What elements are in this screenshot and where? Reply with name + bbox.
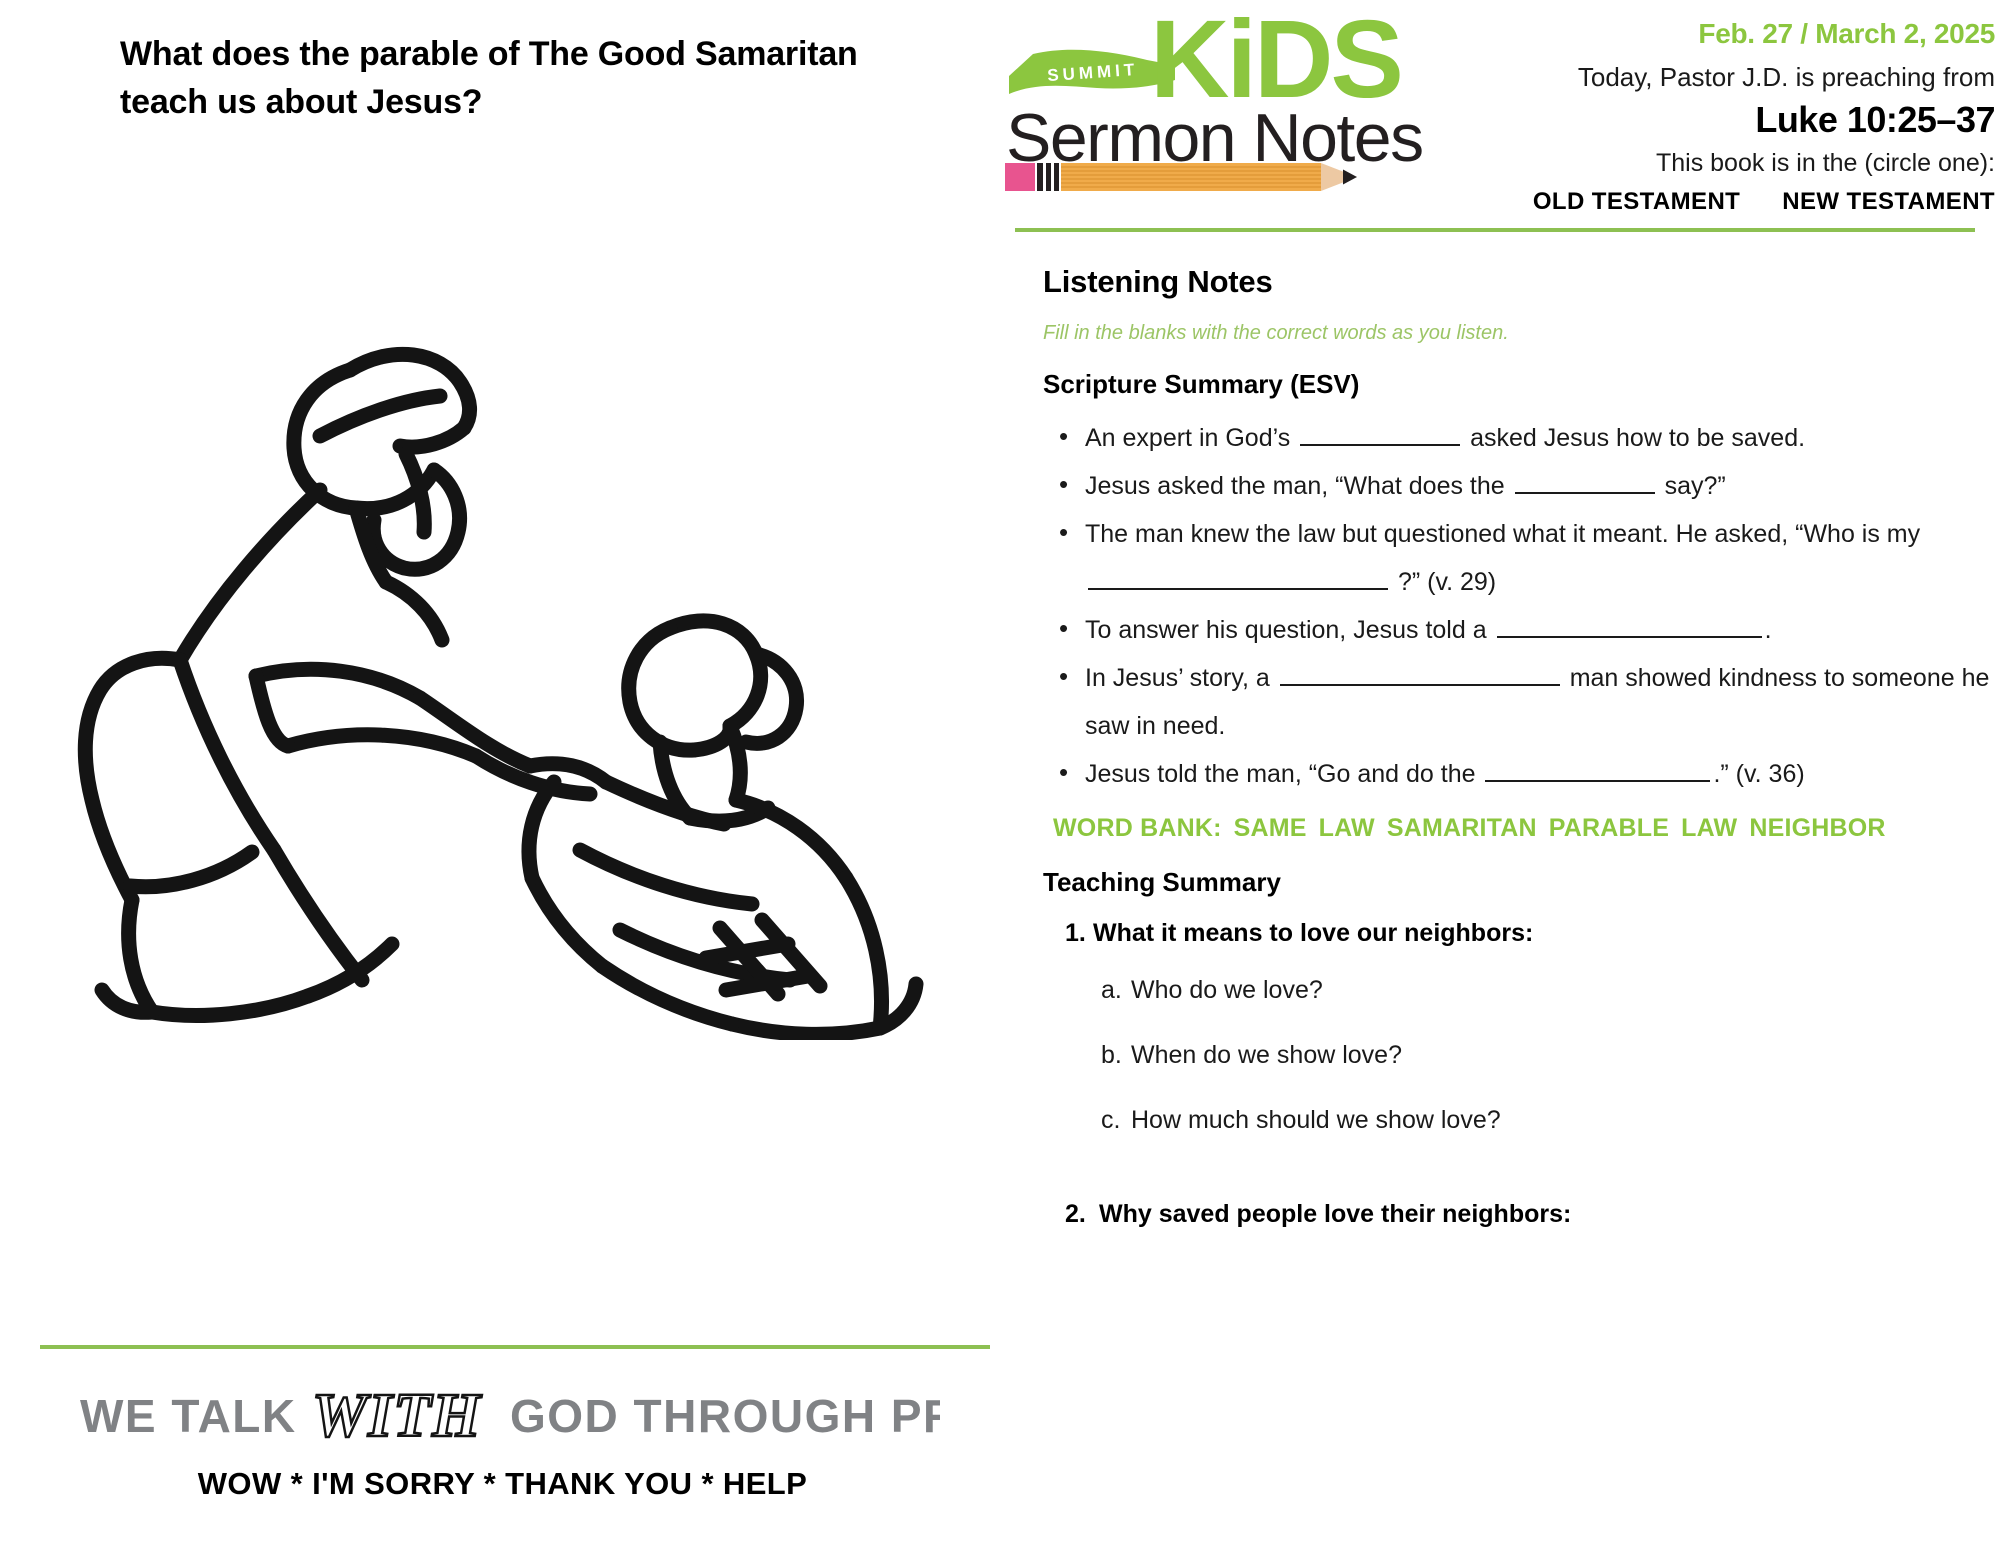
teaching-list: 1. What it means to love our neighbors: … (1043, 916, 2000, 1138)
word-bank-word: NEIGHBOR (1749, 814, 1885, 842)
scripture-bullet-text: In Jesus’ story, a (1085, 664, 1277, 692)
fill-in-blank[interactable] (1515, 466, 1655, 494)
teaching-sub-item: a.Who do we love? (1093, 973, 2000, 1008)
testament-options: OLD TESTAMENT NEW TESTAMENT (1385, 188, 1995, 216)
left-column: What does the parable of The Good Samari… (0, 0, 1005, 1545)
prayer-banner: WE TALK WITH GOD THROUGH PRAYER (30, 1380, 990, 1450)
scripture-bullet: An expert in God’s asked Jesus how to be… (1043, 414, 2000, 462)
listening-notes-title: Listening Notes (1043, 264, 2000, 300)
fill-in-blank[interactable] (1485, 754, 1710, 782)
scripture-bullet-text: An expert in God’s (1085, 424, 1297, 452)
scripture-bullet-text: .” (v. 36) (1713, 760, 1804, 788)
prayer-banner-text-2: GOD THROUGH PRAYER (510, 1390, 940, 1442)
teaching-sub-item-number: c. (1101, 1103, 1120, 1138)
masthead-divider (1015, 228, 1975, 232)
teaching-item-1-label: What it means to love our neighbors: (1093, 919, 1533, 947)
word-bank-word: LAW (1681, 814, 1737, 842)
teaching-item-1-number: 1. (1065, 916, 1086, 951)
scripture-bullet-text: To answer his question, Jesus told a (1085, 616, 1494, 644)
logo-kids-text: KiDS (1150, 5, 1401, 115)
teaching-item-2-label: Why saved people love their neighbors: (1099, 1200, 1571, 1228)
preaching-line: Today, Pastor J.D. is preaching from (1385, 62, 1995, 93)
teaching-sub-item-number: b. (1101, 1038, 1122, 1073)
teaching-sub-item: c.How much should we show love? (1093, 1103, 2000, 1138)
page-title: What does the parable of The Good Samari… (120, 30, 880, 127)
prayer-banner-highlight: WITH (312, 1382, 482, 1450)
scripture-bullet-text: The man knew the law but questioned what… (1085, 520, 1920, 548)
word-bank-label: WORD BANK: (1053, 814, 1222, 842)
teaching-sub-item-label: When do we show love? (1131, 1041, 1402, 1069)
right-column: SUMMIT KiDS Sermon Notes (1005, 0, 2000, 1545)
masthead: SUMMIT KiDS Sermon Notes (1005, 0, 2000, 250)
scripture-bullet: In Jesus’ story, a man showed kindness t… (1043, 654, 2000, 750)
sermon-notes-page: What does the parable of The Good Samari… (0, 0, 2000, 1545)
scripture-bullet: To answer his question, Jesus told a . (1043, 606, 2000, 654)
scripture-bullet: Jesus asked the man, “What does the say?… (1043, 462, 2000, 510)
good-samaritan-illustration (20, 330, 980, 1040)
fill-in-instruction: Fill in the blanks with the correct word… (1043, 322, 2000, 345)
fill-in-blank[interactable] (1497, 610, 1762, 638)
passage-reference: Luke 10:25–37 (1385, 99, 1995, 141)
scripture-bullet: Jesus told the man, “Go and do the .” (v… (1043, 750, 2000, 798)
scripture-bullet-text: asked Jesus how to be saved. (1463, 424, 1805, 452)
scripture-bullet-text: say?” (1658, 472, 1726, 500)
circle-one-instruction: This book is in the (circle one): (1385, 149, 1995, 178)
teaching-item-1: 1. What it means to love our neighbors: … (1043, 916, 2000, 1138)
teaching-summary-title: Teaching Summary (1043, 867, 2000, 898)
word-bank: WORD BANK:SAMELAWSAMARITANPARABLELAWNEIG… (1053, 814, 2000, 843)
left-divider (40, 1345, 990, 1349)
scripture-bullet-text: Jesus asked the man, “What does the (1085, 472, 1512, 500)
testament-option-new[interactable]: NEW TESTAMENT (1782, 188, 1995, 216)
scripture-bullet-text: Jesus told the man, “Go and do the (1085, 760, 1482, 788)
fill-in-blank[interactable] (1280, 658, 1560, 686)
pencil-icon (1005, 160, 1375, 194)
word-bank-word: PARABLE (1549, 814, 1669, 842)
scripture-bullet-list: An expert in God’s asked Jesus how to be… (1043, 414, 2000, 798)
prayer-acronym-line: WOW * I'M SORRY * THANK YOU * HELP (0, 1466, 1005, 1502)
scripture-bullet-text: ?” (v. 29) (1391, 568, 1496, 596)
masthead-details: Feb. 27 / March 2, 2025 Today, Pastor J.… (1385, 18, 1995, 216)
fill-in-blank[interactable] (1300, 418, 1460, 446)
teaching-item-2-number: 2. (1065, 1200, 1086, 1229)
teaching-sub-item-label: How much should we show love? (1131, 1106, 1501, 1134)
testament-option-old[interactable]: OLD TESTAMENT (1533, 188, 1740, 216)
teaching-sub-item: b.When do we show love? (1093, 1038, 2000, 1073)
prayer-banner-text-1: WE TALK (80, 1390, 297, 1442)
teaching-item-2: 2. Why saved people love their neighbors… (1043, 1200, 2000, 1229)
teaching-sub-item-label: Who do we love? (1131, 976, 1323, 1004)
scripture-bullet-text: . (1765, 616, 1772, 644)
word-bank-word: SAME (1234, 814, 1307, 842)
word-bank-word: LAW (1319, 814, 1375, 842)
notes-body: Listening Notes Fill in the blanks with … (1005, 264, 2000, 1229)
teaching-sub-list: a.Who do we love?b.When do we show love?… (1093, 973, 2000, 1138)
word-bank-word: SAMARITAN (1387, 814, 1537, 842)
teaching-sub-item-number: a. (1101, 973, 1122, 1008)
scripture-bullet: The man knew the law but questioned what… (1043, 510, 2000, 606)
fill-in-blank[interactable] (1088, 562, 1388, 590)
scripture-summary-title: Scripture Summary (ESV) (1043, 369, 2000, 400)
issue-date: Feb. 27 / March 2, 2025 (1385, 18, 1995, 50)
